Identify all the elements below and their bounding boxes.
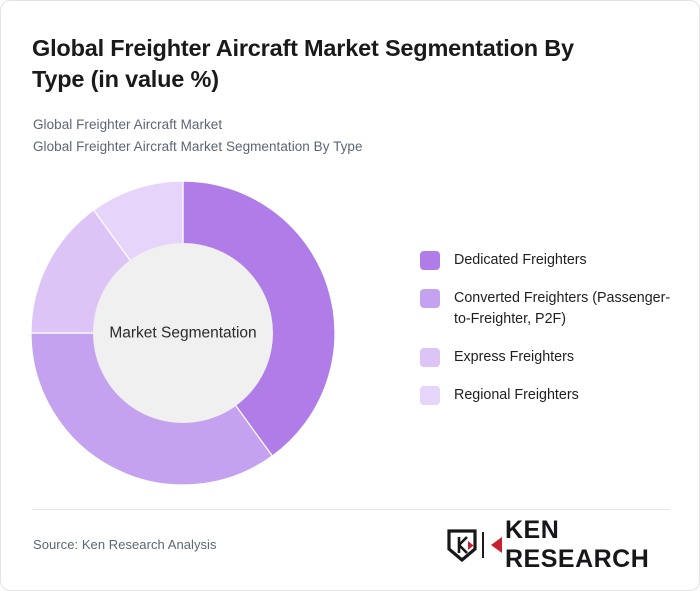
legend-label: Regional Freighters <box>454 385 579 405</box>
chart-legend: Dedicated FreightersConverted Freighters… <box>420 250 682 423</box>
legend-label: Express Freighters <box>454 347 574 367</box>
legend-label: Dedicated Freighters <box>454 250 587 270</box>
legend-swatch <box>420 251 440 270</box>
legend-item[interactable]: Converted Freighters (Passenger-to-Freig… <box>420 288 682 329</box>
legend-label: Converted Freighters (Passenger-to-Freig… <box>454 288 682 329</box>
footer-divider <box>32 509 670 510</box>
legend-swatch <box>420 386 440 405</box>
legend-item[interactable]: Express Freighters <box>420 347 682 367</box>
source-note: Source: Ken Research Analysis <box>33 537 217 552</box>
donut-svg: Market Segmentation <box>29 179 339 489</box>
donut-center-label: Market Segmentation <box>109 325 256 342</box>
subtitle-block: Global Freighter Aircraft Market Global … <box>33 114 633 158</box>
subtitle-line-1: Global Freighter Aircraft Market <box>33 114 633 136</box>
ken-research-logo: KEN RESEARCH <box>447 525 699 565</box>
legend-swatch <box>420 348 440 367</box>
page-title: Global Freighter Aircraft Market Segment… <box>32 33 632 96</box>
chart-card: Global Freighter Aircraft Market Segment… <box>0 0 700 591</box>
logo-shield-icon <box>447 529 477 562</box>
legend-swatch <box>420 289 440 308</box>
subtitle-line-2: Global Freighter Aircraft Market Segment… <box>33 136 633 158</box>
legend-item[interactable]: Regional Freighters <box>420 385 682 405</box>
donut-chart: Market Segmentation <box>29 179 339 489</box>
legend-item[interactable]: Dedicated Freighters <box>420 250 682 270</box>
logo-wordmark: KEN RESEARCH <box>505 516 699 574</box>
logo-divider <box>482 532 484 558</box>
logo-triangle-icon <box>491 537 502 553</box>
